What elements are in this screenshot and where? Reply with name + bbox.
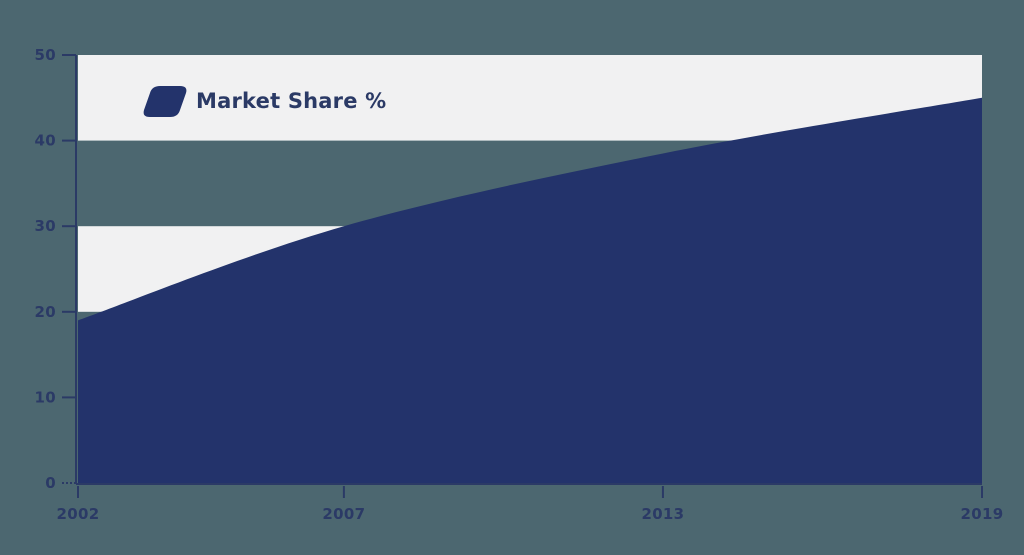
y-tick-label: 30: [35, 217, 56, 235]
area-series-market-share: [78, 98, 982, 483]
area-chart: 01020304050 2002200720132019 Market Shar…: [0, 0, 1024, 555]
x-tick-label: 2013: [641, 505, 684, 523]
chart-canvas: 01020304050 2002200720132019 Market Shar…: [0, 0, 1024, 555]
y-tick-label: 50: [35, 46, 56, 64]
y-axis: 01020304050: [35, 46, 76, 492]
x-tick-group: 2002200720132019: [57, 486, 1004, 523]
x-tick-label: 2019: [961, 505, 1004, 523]
y-tick-label: 20: [35, 303, 56, 321]
y-tick-label: 40: [35, 132, 56, 150]
y-tick-label: 10: [35, 388, 56, 406]
legend-label-market-share: Market Share %: [196, 89, 386, 113]
x-axis: 2002200720132019: [57, 484, 1004, 523]
x-tick-label: 2002: [57, 505, 100, 523]
y-tick-group: 01020304050: [35, 46, 76, 492]
x-tick-label: 2007: [322, 505, 365, 523]
y-tick-label: 0: [45, 474, 56, 492]
series-group: [78, 98, 982, 483]
